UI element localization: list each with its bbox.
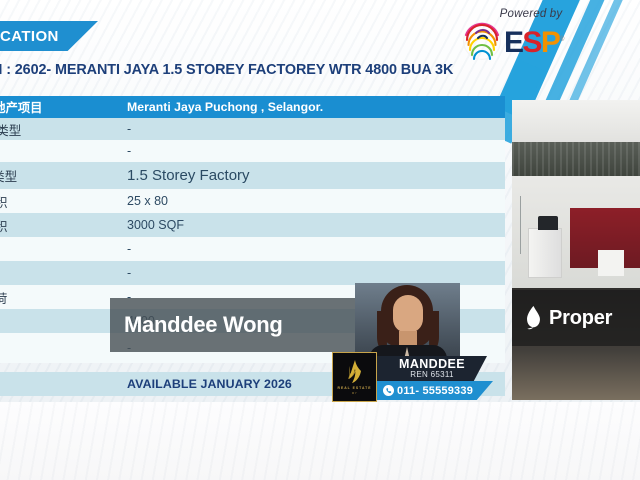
table-header-value: Meranti Jaya Puchong , Selangor.: [120, 100, 505, 114]
flame-icon: [524, 306, 543, 330]
photo-cabinet: [528, 228, 562, 278]
section-tab: CATION: [0, 21, 98, 51]
photo-doorway: [598, 250, 624, 276]
gold-wing-emblem-icon: [342, 359, 368, 385]
table-row: ding 建筑类型 1.5 Storey Factory: [0, 162, 505, 189]
photo-brand-overlay: Proper: [512, 290, 640, 346]
fingerprint-icon: [462, 21, 502, 61]
row-value: -: [120, 266, 505, 280]
registered-mark: ®: [559, 36, 563, 43]
row-value: 1.5 Storey Factory: [120, 167, 505, 184]
phone-icon: [383, 385, 394, 396]
esp-letter-s: S: [522, 26, 540, 59]
powered-by-label: Powered by: [462, 8, 592, 20]
table-header-row: operty 房地产项目 Meranti Jaya Puchong , Sela…: [0, 96, 505, 118]
agent-info-banner: MANDDEE REN 65311: [377, 356, 487, 381]
table-header-label: operty 房地产项目: [0, 98, 120, 116]
powered-by-esp-logo: Powered by ESP®: [462, 8, 592, 61]
table-row: ghts 高度 -: [0, 261, 505, 285]
property-photo: Proper: [512, 100, 640, 400]
row-label: 租: [0, 312, 120, 331]
row-label: ng 地面负荷: [0, 288, 120, 307]
row-label: e 卖价: [0, 339, 120, 358]
row-value: -: [120, 122, 505, 136]
table-row: Land 土地类型 -: [0, 118, 505, 140]
table-row: ea 土地面积 25 x 80: [0, 189, 505, 213]
photo-ceiling: [512, 100, 640, 142]
agent-name: MANDDEE: [399, 358, 465, 370]
photo-drum: [538, 216, 558, 230]
table-row: 期 -: [0, 140, 505, 162]
row-label: ly 电压: [0, 240, 120, 259]
section-tab-label: CATION: [0, 28, 59, 45]
row-value: 3000 SQF: [120, 218, 505, 232]
table-row: ly 电压 -: [0, 237, 505, 261]
row-label: ea 土地面积: [0, 192, 120, 211]
row-label: ding 建筑类型: [0, 166, 120, 185]
agent-phone-number: 011- 55559339: [397, 385, 473, 397]
row-label: Land 土地类型: [0, 120, 120, 139]
slide-lower-background: [0, 402, 640, 480]
agency-logo-badge: REAL ESTATE MY: [332, 352, 377, 402]
esp-letter-e: E: [504, 26, 522, 59]
photo-pipe: [520, 196, 521, 254]
row-label: 期: [0, 142, 120, 161]
photo-brand-label: Proper: [549, 307, 612, 330]
esp-letter-p: P: [541, 26, 559, 59]
row-value: 25 x 80: [120, 194, 505, 208]
row-value: -: [120, 242, 505, 256]
agent-licence: REN 65311: [410, 370, 453, 380]
page-title: N : 2602- MERANTI JAYA 1.5 STOREY FACTOR…: [0, 62, 512, 78]
presentation-slide: CATION N : 2602- MERANTI JAYA 1.5 STOREY…: [0, 0, 640, 402]
agent-phone-banner[interactable]: 011- 55559339: [377, 381, 493, 400]
row-label: ea 建筑面积: [0, 216, 120, 235]
row-label: 注: [0, 375, 120, 394]
badge-line-2: MY: [352, 391, 358, 395]
row-label: ghts 高度: [0, 264, 120, 283]
row-value: -: [120, 144, 505, 158]
table-row: ea 建筑面积 3000 SQF: [0, 213, 505, 237]
badge-line-1: REAL ESTATE: [338, 386, 372, 390]
photo-roof-truss: [512, 142, 640, 176]
presenter-face: [393, 295, 423, 333]
presenter-name: Manddee Wong: [110, 312, 283, 338]
